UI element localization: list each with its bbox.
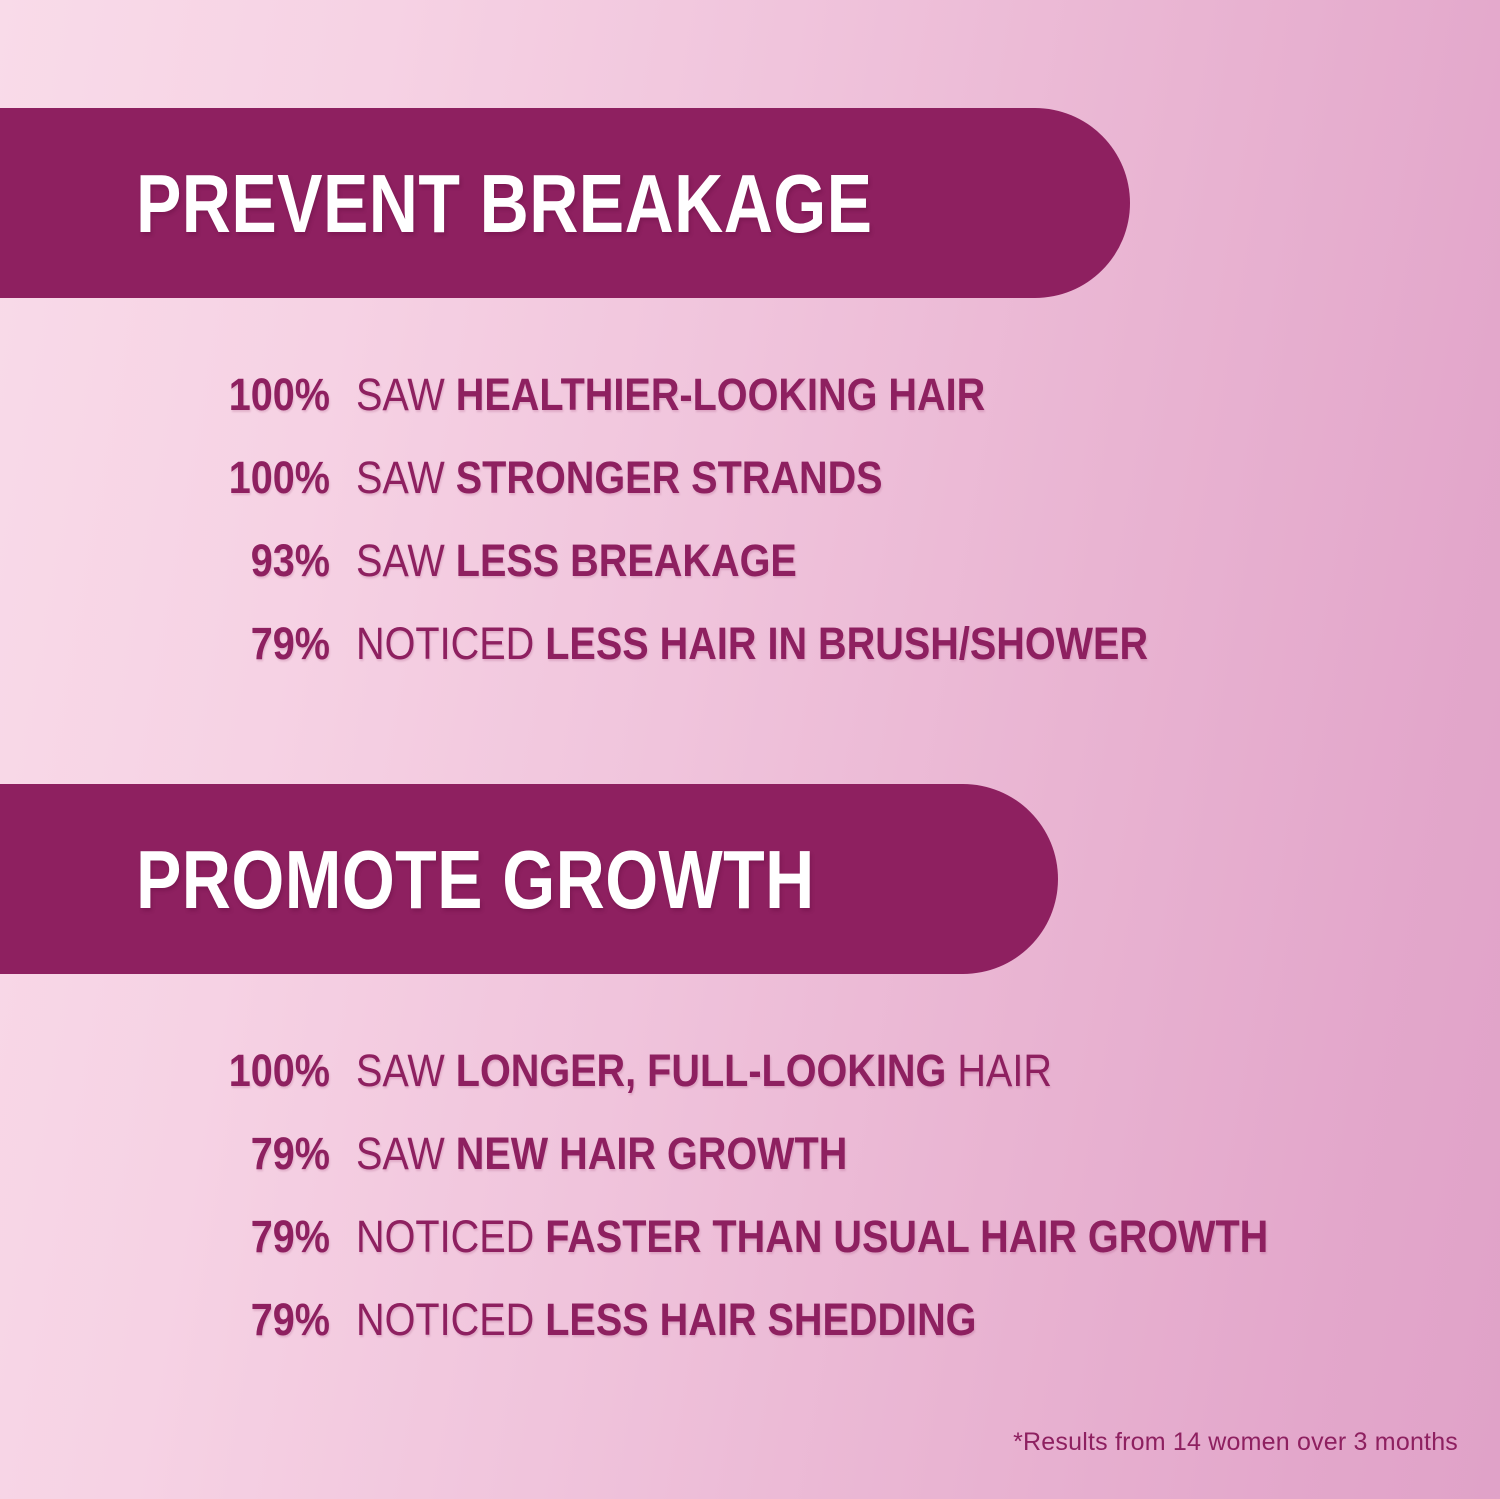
- stat-claim-tail: HAIR: [957, 1045, 1052, 1096]
- stat-claim: HEALTHIER-LOOKING HAIR: [456, 369, 985, 420]
- stat-percentage: 93%: [216, 538, 330, 583]
- stat-claim: LESS HAIR SHEDDING: [545, 1294, 976, 1345]
- stat-description: SAW LONGER, FULL-LOOKING HAIR: [356, 1048, 1052, 1093]
- stat-verb: NOTICED: [356, 1294, 534, 1345]
- stat-row: 93% SAW LESS BREAKAGE: [0, 538, 1500, 621]
- stat-percentage: 79%: [216, 1214, 330, 1259]
- stat-verb: SAW: [356, 535, 445, 586]
- stat-description: SAW NEW HAIR GROWTH: [356, 1131, 847, 1176]
- stat-verb: NOTICED: [356, 618, 534, 669]
- stat-description: NOTICED LESS HAIR SHEDDING: [356, 1297, 976, 1342]
- banner-prevent-breakage-title: PREVENT BREAKAGE: [136, 162, 872, 245]
- stat-list-promote-growth: 100% SAW LONGER, FULL-LOOKING HAIR 79% S…: [0, 1048, 1500, 1380]
- banner-promote-growth: PROMOTE GROWTH: [0, 784, 1058, 974]
- stat-percentage: 79%: [216, 621, 330, 666]
- stat-claim: FASTER THAN USUAL HAIR GROWTH: [545, 1211, 1268, 1262]
- stat-row: 100% SAW HEALTHIER-LOOKING HAIR: [0, 372, 1500, 455]
- stat-description: NOTICED FASTER THAN USUAL HAIR GROWTH: [356, 1214, 1268, 1259]
- stat-percentage: 79%: [216, 1297, 330, 1342]
- stat-claim: LESS HAIR IN BRUSH/SHOWER: [545, 618, 1148, 669]
- stat-verb: SAW: [356, 452, 445, 503]
- stat-claim: LESS BREAKAGE: [456, 535, 797, 586]
- stat-row: 79% NOTICED LESS HAIR SHEDDING: [0, 1297, 1500, 1380]
- stat-row: 100% SAW LONGER, FULL-LOOKING HAIR: [0, 1048, 1500, 1131]
- stat-verb: SAW: [356, 1045, 445, 1096]
- banner-promote-growth-title: PROMOTE GROWTH: [136, 838, 815, 921]
- stat-row: 79% NOTICED LESS HAIR IN BRUSH/SHOWER: [0, 621, 1500, 704]
- banner-prevent-breakage: PREVENT BREAKAGE: [0, 108, 1130, 298]
- stat-verb: NOTICED: [356, 1211, 534, 1262]
- stat-claim: LONGER, FULL-LOOKING: [456, 1045, 947, 1096]
- stat-claim: NEW HAIR GROWTH: [456, 1128, 848, 1179]
- stat-claim: STRONGER STRANDS: [456, 452, 883, 503]
- stat-row: 79% NOTICED FASTER THAN USUAL HAIR GROWT…: [0, 1214, 1500, 1297]
- stat-verb: SAW: [356, 369, 445, 420]
- claims-poster: PREVENT BREAKAGE 100% SAW HEALTHIER-LOOK…: [0, 0, 1500, 1499]
- stat-list-prevent-breakage: 100% SAW HEALTHIER-LOOKING HAIR 100% SAW…: [0, 372, 1500, 704]
- stat-percentage: 100%: [216, 1048, 330, 1093]
- stat-verb: SAW: [356, 1128, 445, 1179]
- stat-description: SAW STRONGER STRANDS: [356, 455, 883, 500]
- stat-percentage: 79%: [216, 1131, 330, 1176]
- stat-description: SAW HEALTHIER-LOOKING HAIR: [356, 372, 985, 417]
- stat-description: SAW LESS BREAKAGE: [356, 538, 797, 583]
- stat-row: 79% SAW NEW HAIR GROWTH: [0, 1131, 1500, 1214]
- stat-description: NOTICED LESS HAIR IN BRUSH/SHOWER: [356, 621, 1148, 666]
- stat-percentage: 100%: [216, 455, 330, 500]
- stat-row: 100% SAW STRONGER STRANDS: [0, 455, 1500, 538]
- stat-percentage: 100%: [216, 372, 330, 417]
- results-footnote: *Results from 14 women over 3 months: [1013, 1428, 1458, 1457]
